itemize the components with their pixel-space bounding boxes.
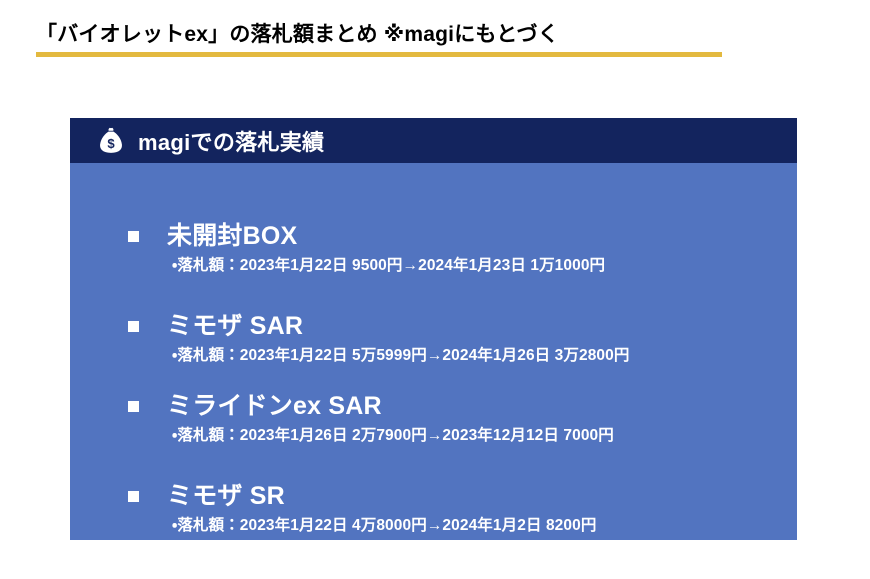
- list-item-heading: 未開封BOX: [70, 223, 797, 251]
- money-bag-icon: $: [96, 126, 126, 156]
- list-item: ミモザ SAR ・落札額：2023年1月22日 5万5999円→2024年1月2…: [70, 313, 797, 365]
- list-item-title: ミモザ SR: [167, 483, 285, 511]
- list-item-detail: ・落札額：2023年1月26日 2万7900円→2023年12月12日 7000…: [70, 427, 797, 446]
- panel-header: $ magiでの落札実績: [70, 118, 797, 163]
- square-bullet-icon: [128, 491, 139, 502]
- list-item-heading: ミモザ SR: [70, 483, 797, 511]
- list-item-title: ミライドンex SAR: [167, 393, 382, 421]
- auction-results-panel: $ magiでの落札実績 未開封BOX ・落札額：2023年1月22日 9500…: [70, 118, 797, 540]
- square-bullet-icon: [128, 231, 139, 242]
- page-title: 「バイオレットex」の落札額まとめ ※magiにもとづく: [36, 22, 722, 48]
- list-item-heading: ミモザ SAR: [70, 313, 797, 341]
- auction-results-list: 未開封BOX ・落札額：2023年1月22日 9500円→2024年1月23日 …: [70, 163, 797, 540]
- list-item: 未開封BOX ・落札額：2023年1月22日 9500円→2024年1月23日 …: [70, 223, 797, 275]
- svg-text:$: $: [107, 135, 115, 150]
- list-item: ミライドンex SAR ・落札額：2023年1月26日 2万7900円→2023…: [70, 393, 797, 445]
- list-item-detail: ・落札額：2023年1月22日 4万8000円→2024年1月2日 8200円: [70, 517, 797, 536]
- square-bullet-icon: [128, 321, 139, 332]
- list-item-detail: ・落札額：2023年1月22日 5万5999円→2024年1月26日 3万280…: [70, 347, 797, 366]
- list-item-title: 未開封BOX: [167, 223, 297, 251]
- square-bullet-icon: [128, 401, 139, 412]
- list-item-heading: ミライドンex SAR: [70, 393, 797, 421]
- list-item-detail: ・落札額：2023年1月22日 9500円→2024年1月23日 1万1000円: [70, 257, 797, 276]
- panel-header-title: magiでの落札実績: [138, 125, 324, 157]
- slide-title-block: 「バイオレットex」の落札額まとめ ※magiにもとづく: [36, 22, 722, 57]
- list-item-title: ミモザ SAR: [167, 313, 303, 341]
- title-underline-rule: [36, 52, 722, 57]
- list-item: ミモザ SR ・落札額：2023年1月22日 4万8000円→2024年1月2日…: [70, 483, 797, 535]
